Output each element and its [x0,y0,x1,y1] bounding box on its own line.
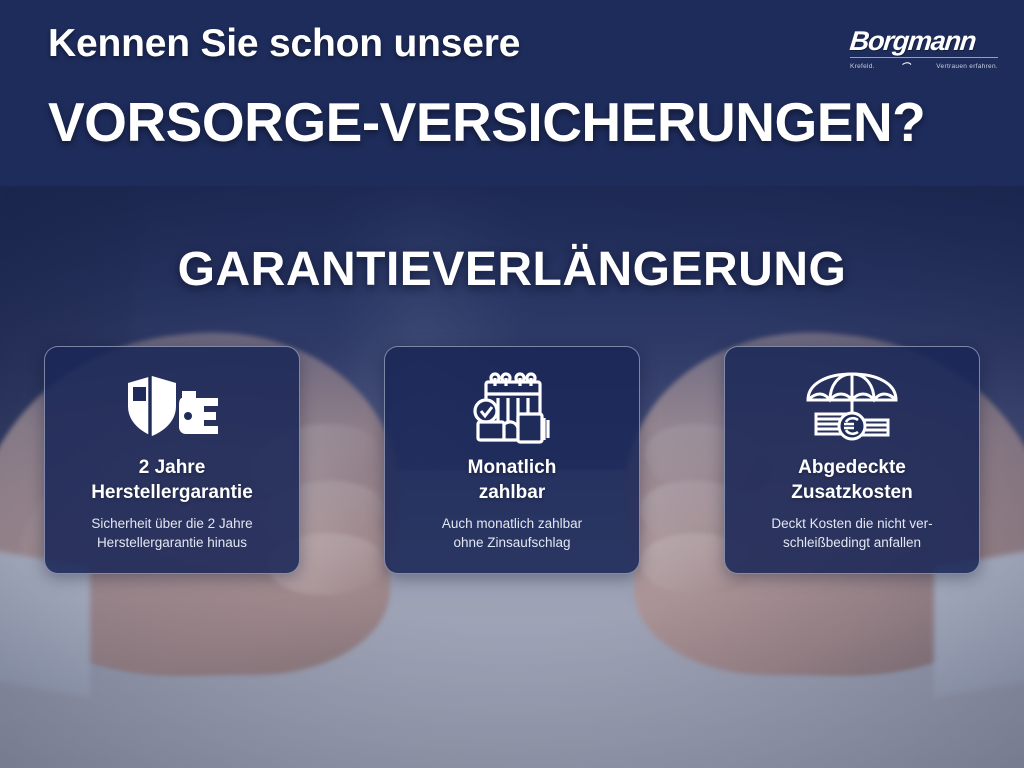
feature-cards: 2 Jahre Herstellergarantie Sicherheit üb… [44,346,980,574]
shield-engine-icon [124,369,220,447]
calendar-check-payment-icon [468,369,556,447]
logo-tagline-left: Krefeld. [850,63,875,70]
header-band: Kennen Sie schon unsere VORSORGE-VERSICH… [0,0,1024,186]
card-title: Monatlich zahlbar [468,455,557,505]
borgmann-logo[interactable]: Borgmann Krefeld. ⌒ Vertrauen erfahren. [850,26,998,70]
logo-tagline-right: Vertrauen erfahren. [936,63,998,70]
feature-card-monthly-payment[interactable]: Monatlich zahlbar Auch monatlich zahlbar… [384,346,640,574]
umbrella-euro-coins-icon [802,369,902,447]
logo-divider [850,57,998,58]
card-title: Abgedeckte Zusatzkosten [791,455,912,505]
section-title: GARANTIEVERLÄNGERUNG [0,242,1024,297]
promo-banner: Kennen Sie schon unsere VORSORGE-VERSICH… [0,0,1024,768]
card-description: Deckt Kosten die nicht ver- schleißbedin… [771,514,932,552]
header-headline: VORSORGE-VERSICHERUNGEN? [48,90,925,154]
logo-wordmark: Borgmann [848,26,999,56]
card-description: Auch monatlich zahlbar ohne Zinsaufschla… [442,514,582,552]
card-title: 2 Jahre Herstellergarantie [91,455,253,505]
logo-tagline: Krefeld. ⌒ Vertrauen erfahren. [850,60,998,73]
feature-card-extra-costs[interactable]: Abgedeckte Zusatzkosten Deckt Kosten die… [724,346,980,574]
logo-swoosh-icon: ⌒ [901,60,910,73]
card-description: Sicherheit über die 2 Jahre Herstellerga… [91,514,252,552]
feature-card-warranty[interactable]: 2 Jahre Herstellergarantie Sicherheit üb… [44,346,300,574]
header-kicker: Kennen Sie schon unsere [48,22,520,66]
